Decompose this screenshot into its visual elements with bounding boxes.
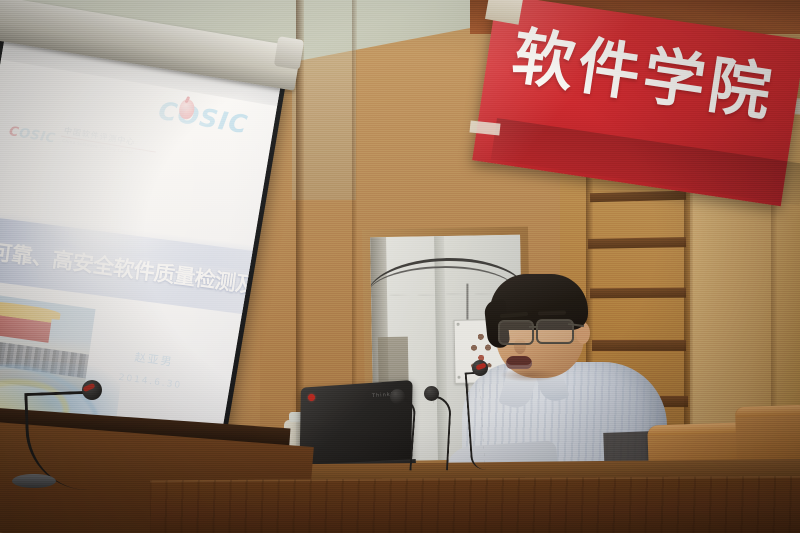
microphone-head <box>424 386 439 401</box>
chin-shadow <box>500 368 560 382</box>
wood-inlay-stripe <box>588 237 686 249</box>
screen-housing-cap <box>274 36 304 70</box>
lecture-hall-photo: COSIC COSIC 中国软件评测中心 China Software Test… <box>0 0 800 533</box>
nose <box>514 338 526 354</box>
microphone-head <box>390 389 405 404</box>
eyeglasses-bridge <box>529 326 538 328</box>
microphone-base <box>12 474 56 488</box>
desk-wood-grain <box>150 476 800 533</box>
